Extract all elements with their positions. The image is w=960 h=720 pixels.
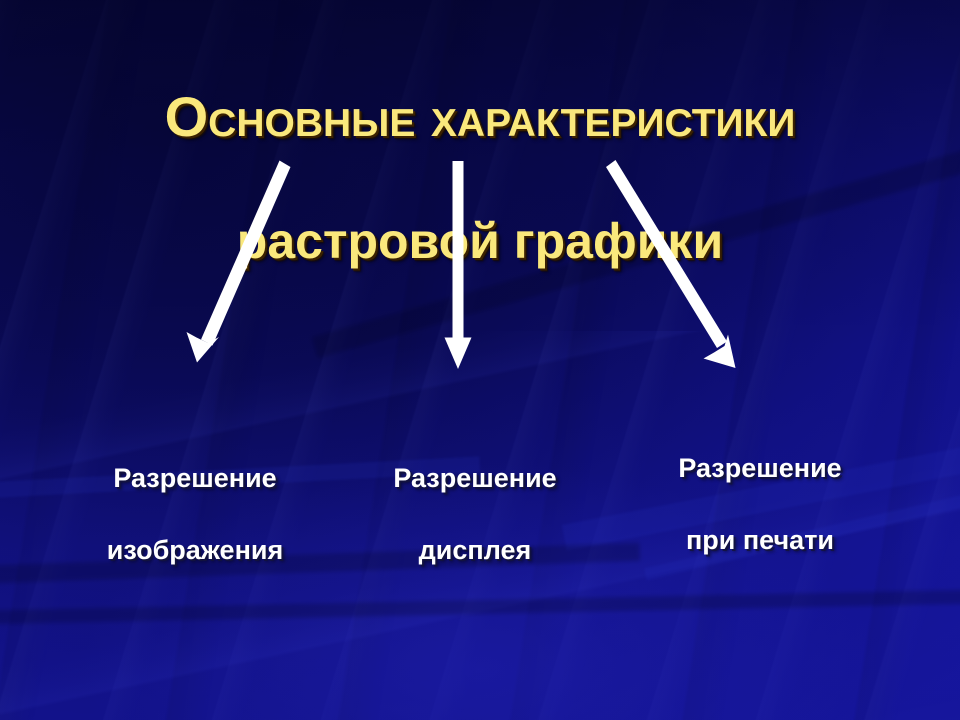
- presentation-slide: Основные характеристики растровой график…: [0, 0, 960, 720]
- label-image-resolution: Разрешение изображения: [40, 424, 350, 568]
- label-print-resolution-line-2: при печати: [686, 525, 834, 555]
- arrow-middle: [445, 161, 472, 369]
- label-image-resolution-line-1: Разрешение: [113, 463, 276, 493]
- arrow-left: [187, 161, 291, 363]
- label-print-resolution: Разрешение при печати: [605, 414, 915, 558]
- label-print-resolution-line-1: Разрешение: [678, 453, 841, 483]
- label-display-resolution-line-2: дисплея: [419, 535, 532, 565]
- label-display-resolution: Разрешение дисплея: [330, 424, 620, 568]
- label-image-resolution-line-2: изображения: [107, 535, 284, 565]
- arrow-group: [0, 0, 960, 720]
- label-display-resolution-line-1: Разрешение: [393, 463, 556, 493]
- arrow-right: [606, 160, 736, 368]
